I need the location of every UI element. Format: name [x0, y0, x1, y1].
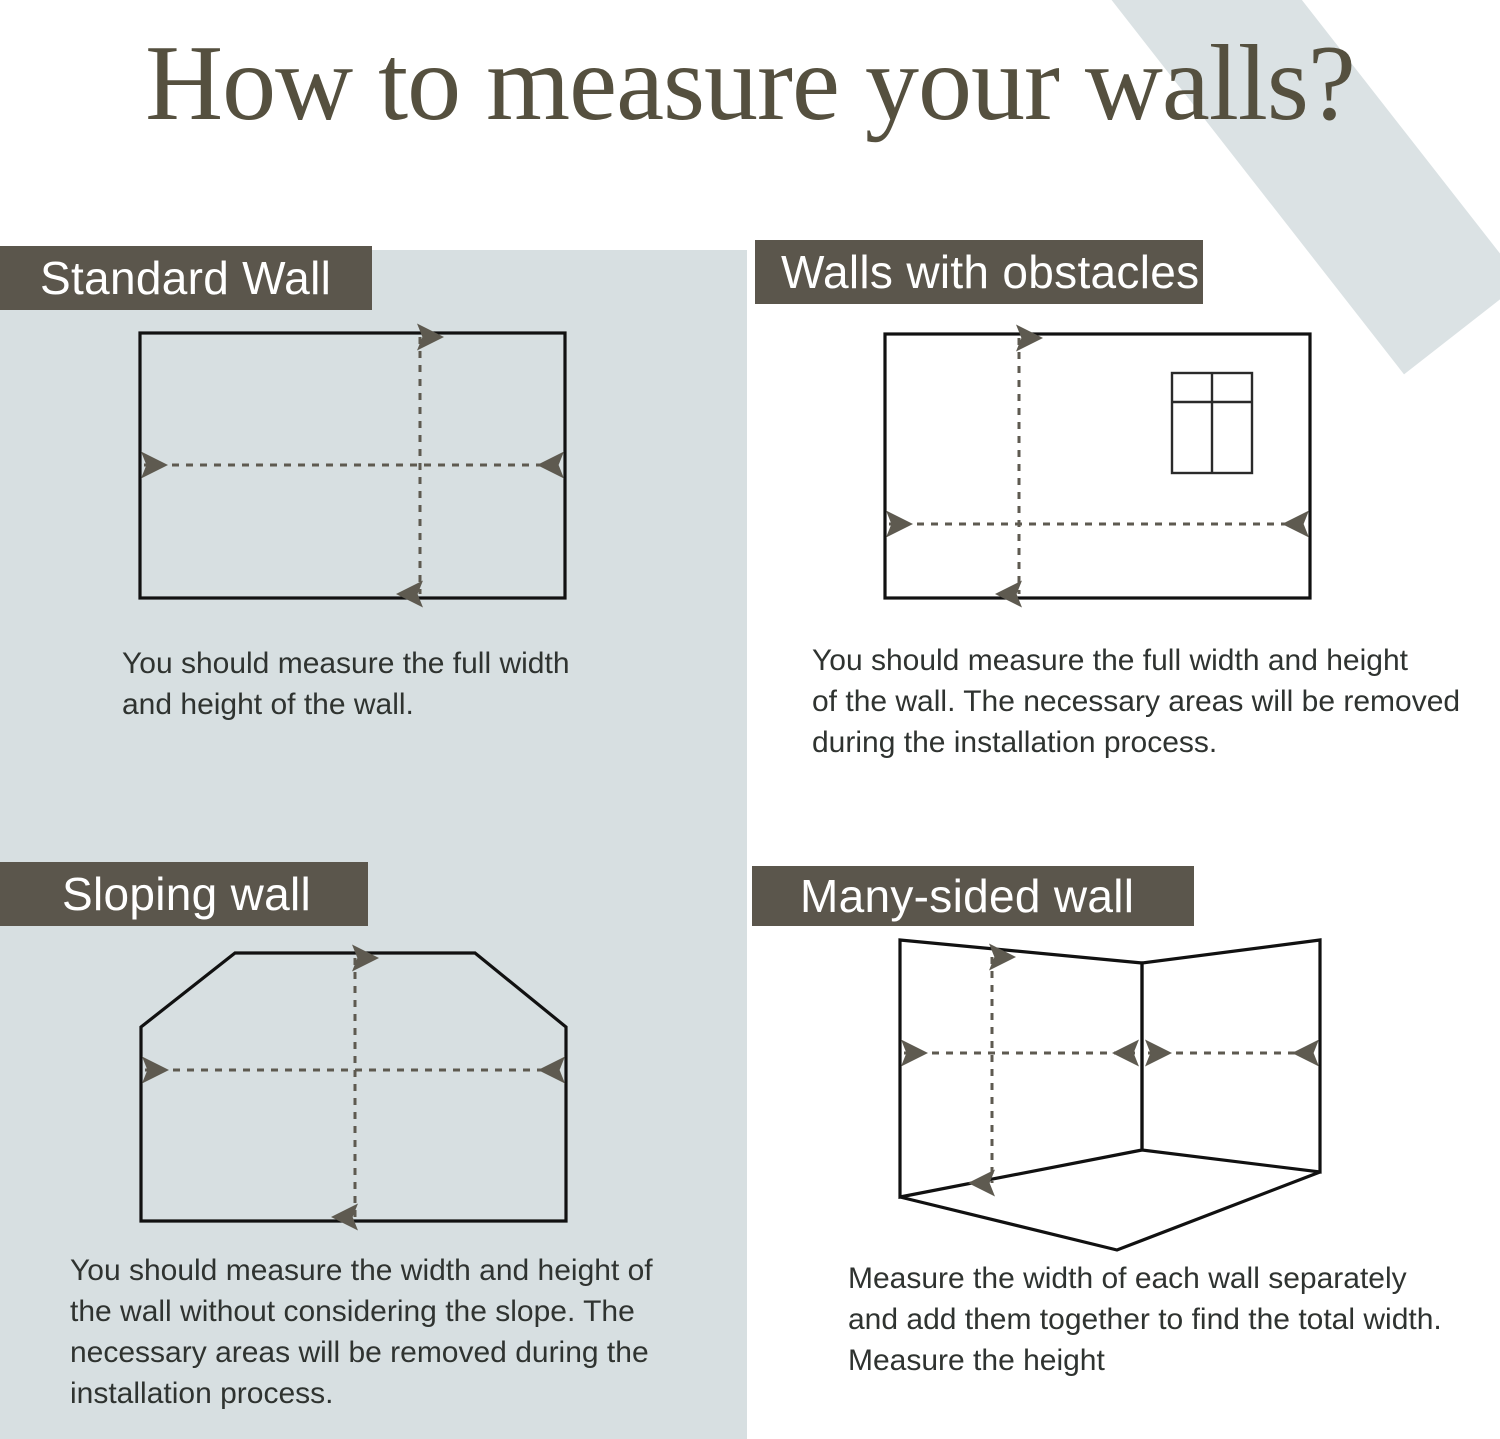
- caption-standard-wall: You should measure the full width and he…: [122, 643, 642, 725]
- walls-with-obstacles-diagram: [860, 318, 1340, 618]
- many-sided-wall-diagram: [870, 925, 1350, 1265]
- section-heading-sloping-wall: Sloping wall: [0, 862, 368, 926]
- section-heading-standard-wall: Standard Wall: [0, 246, 372, 310]
- sloping-wall-diagram: [110, 930, 600, 1242]
- window-icon: [1172, 373, 1252, 473]
- section-heading-standard-wall-label: Standard Wall: [40, 255, 331, 301]
- caption-sloping-wall: You should measure the width and height …: [70, 1250, 680, 1414]
- section-heading-many-sided-wall-label: Many-sided wall: [800, 873, 1134, 919]
- corner-room-outline: [900, 940, 1320, 1250]
- section-heading-many-sided-wall: Many-sided wall: [752, 866, 1194, 926]
- section-heading-walls-with-obstacles: Walls with obstacles: [755, 240, 1203, 304]
- standard-wall-diagram: [110, 315, 600, 620]
- caption-walls-with-obstacles: You should measure the full width and he…: [812, 640, 1472, 763]
- page-title: How to measure your walls?: [0, 24, 1500, 144]
- infographic-canvas: How to measure your walls? Standard Wall: [0, 0, 1500, 1439]
- section-heading-walls-with-obstacles-label: Walls with obstacles: [781, 249, 1199, 295]
- caption-many-sided-wall: Measure the width of each wall separatel…: [848, 1258, 1468, 1381]
- section-heading-sloping-wall-label: Sloping wall: [62, 871, 311, 917]
